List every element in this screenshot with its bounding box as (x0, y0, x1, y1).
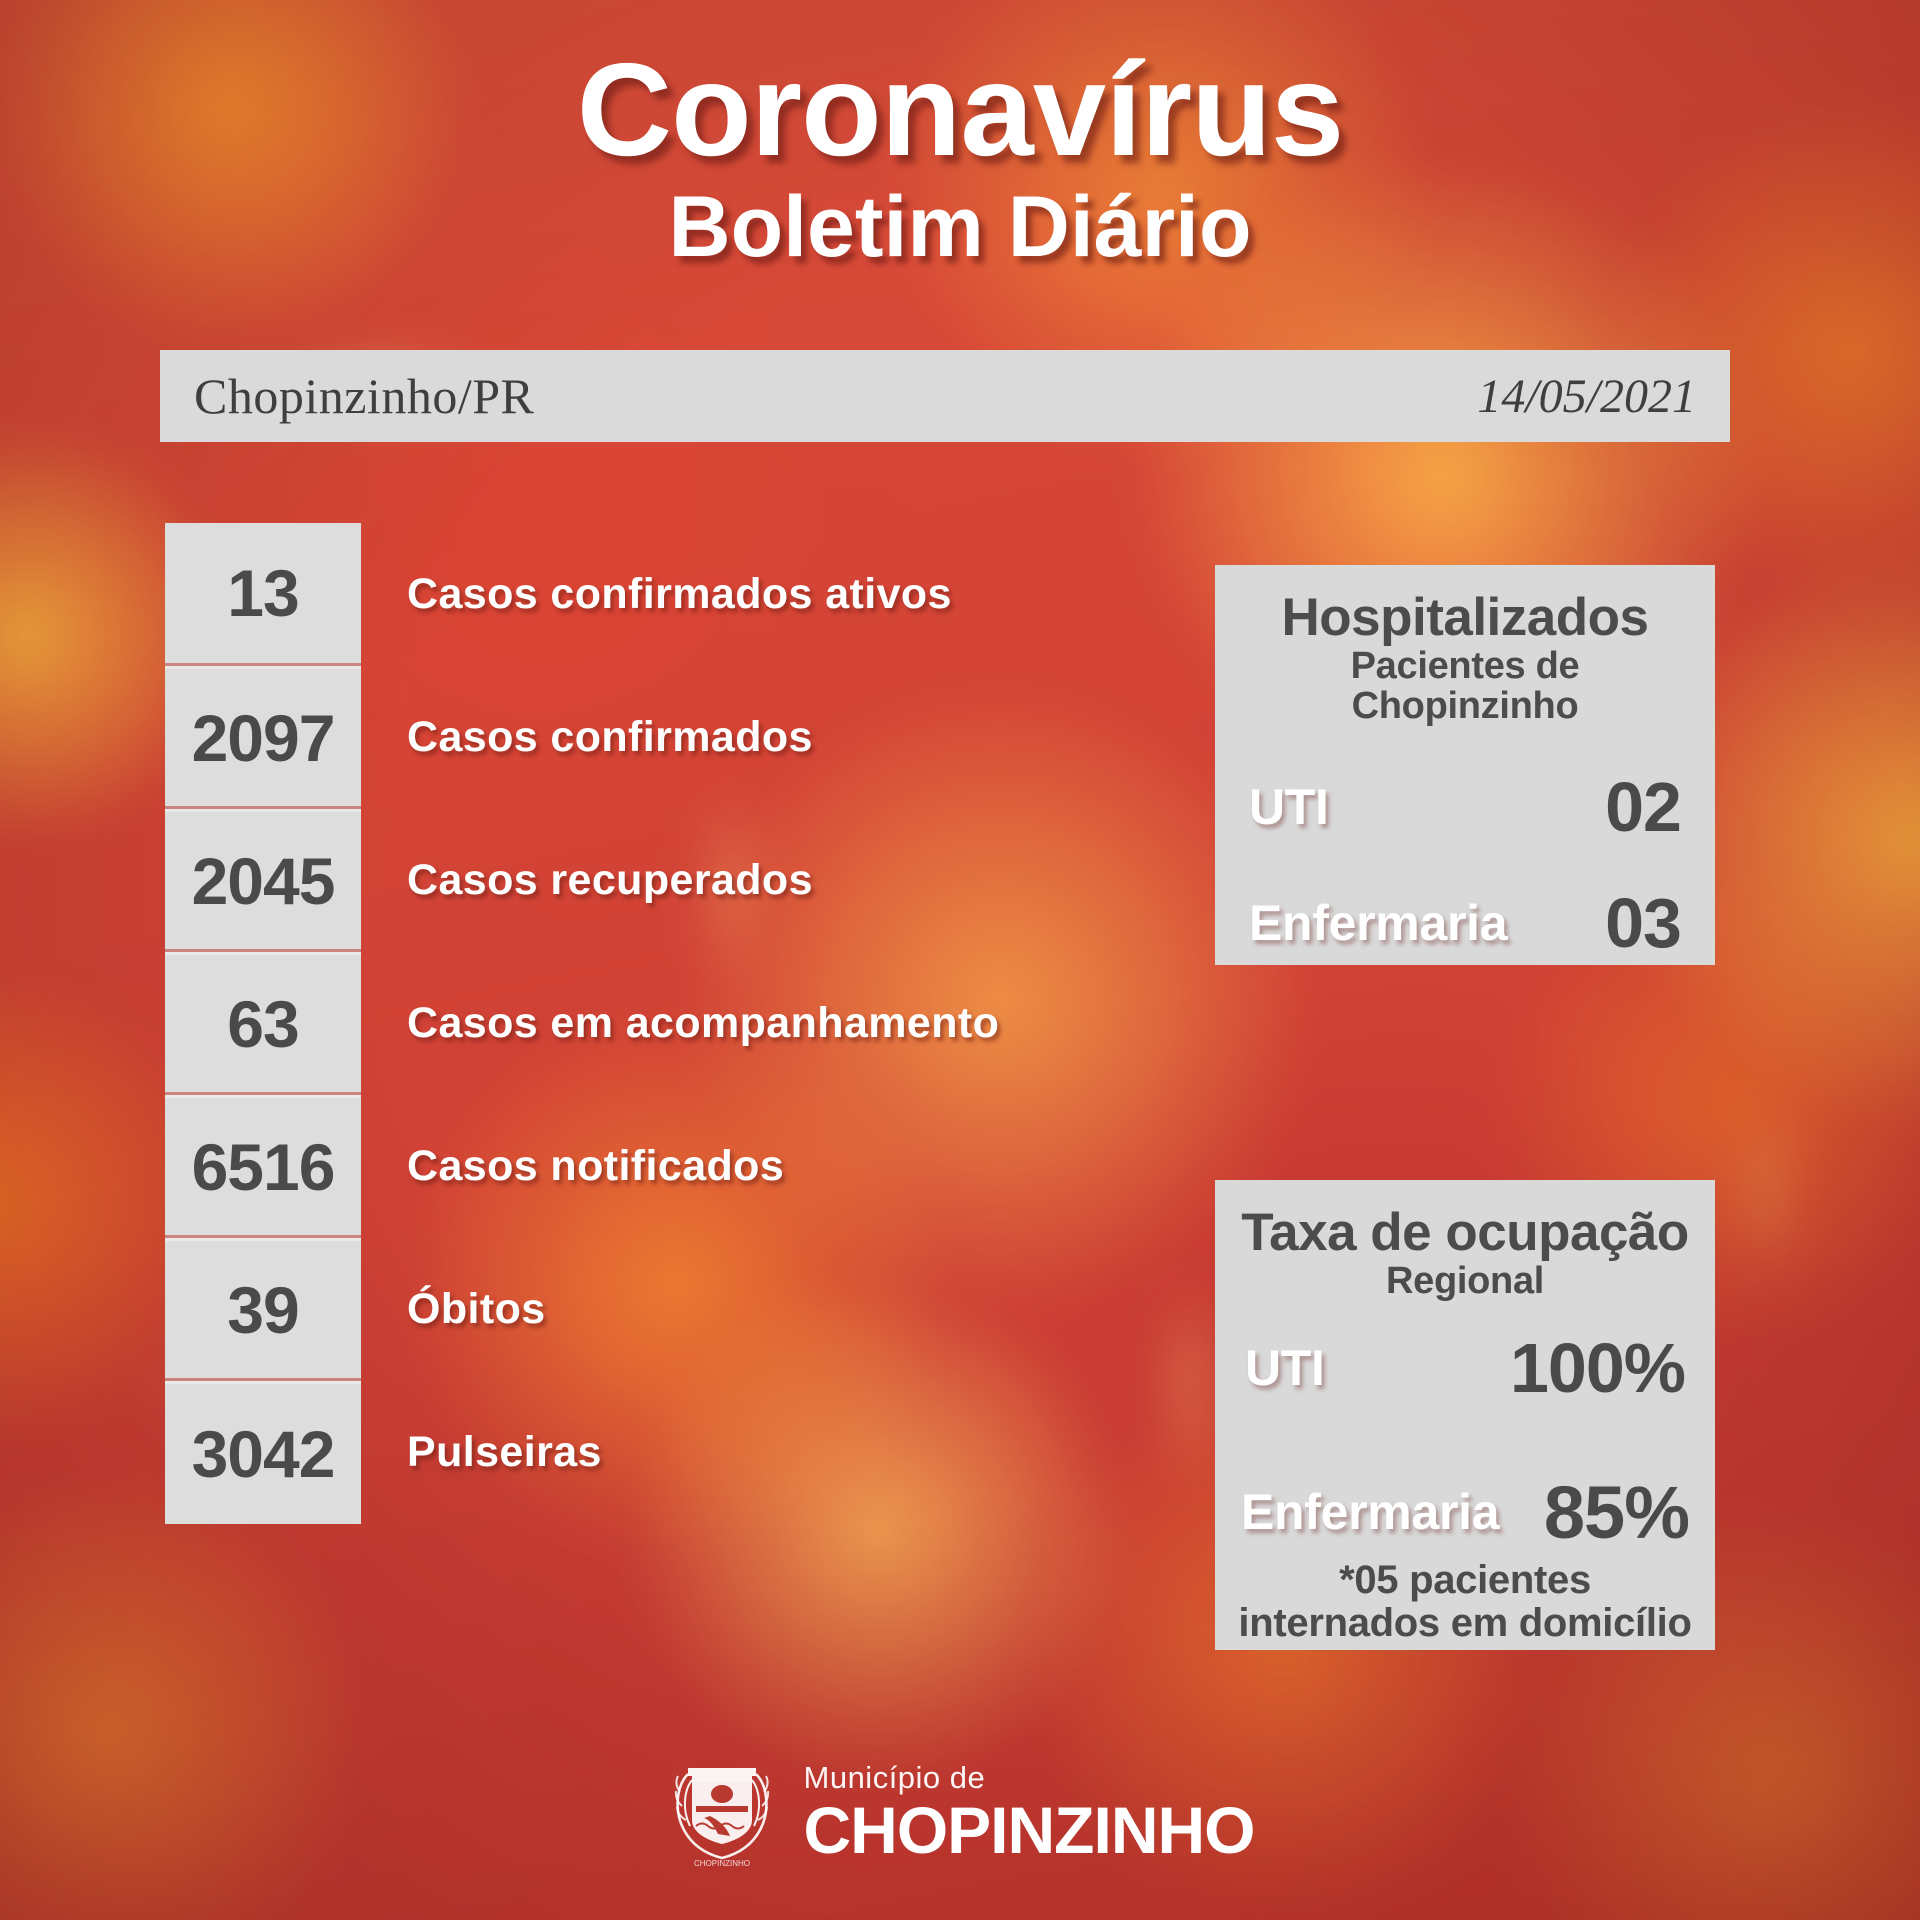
stat-value-box: 63 (165, 952, 361, 1095)
hospitalized-enfermaria-label: Enfermaria (1249, 894, 1507, 952)
coronavirus-daily-bulletin: Coronavírus Boletim Diário Chopinzinho/P… (0, 0, 1920, 1920)
hospitalized-row-enfermaria: Enfermaria 03 (1239, 883, 1691, 963)
stat-label: Casos notificados (407, 1142, 784, 1191)
occupancy-uti-label: UTI (1245, 1339, 1325, 1397)
stat-row: 6516 Casos notificados (165, 1095, 1175, 1238)
stat-value: 63 (227, 986, 298, 1062)
stat-label: Casos recuperados (407, 856, 813, 905)
stat-label: Casos em acompanhamento (407, 999, 999, 1048)
stat-value-box: 3042 (165, 1381, 361, 1524)
stat-label: Casos confirmados ativos (407, 570, 952, 619)
stat-label: Casos confirmados (407, 713, 813, 762)
stat-value: 2045 (192, 843, 335, 919)
occupancy-enfermaria-label: Enfermaria (1241, 1483, 1499, 1541)
stat-label: Óbitos (407, 1285, 546, 1334)
occupancy-rate-panel: Taxa de ocupação Regional UTI 100% Enfer… (1215, 1180, 1715, 1650)
stat-value-box: 39 (165, 1238, 361, 1381)
stat-row: 2097 Casos confirmados (165, 666, 1175, 809)
page-title: Coronavírus (0, 44, 1920, 176)
occupancy-note: *05 pacientes internados em domicílio (1235, 1559, 1695, 1645)
location-date-bar: Chopinzinho/PR 14/05/2021 (160, 350, 1730, 442)
stat-row: 2045 Casos recuperados (165, 809, 1175, 952)
stat-row: 63 Casos em acompanhamento (165, 952, 1175, 1095)
brand-prefix: Município de (804, 1762, 1255, 1793)
coat-of-arms-icon: CHOPINZINHO (666, 1746, 778, 1878)
svg-text:CHOPINZINHO: CHOPINZINHO (694, 1859, 750, 1868)
stat-row: 3042 Pulseiras (165, 1381, 1175, 1524)
stat-value-box: 2097 (165, 666, 361, 809)
city-label: Chopinzinho/PR (194, 367, 534, 425)
hospitalized-row-uti: UTI 02 (1239, 767, 1691, 847)
page-subtitle: Boletim Diário (0, 182, 1920, 272)
statistics-list: 13 Casos confirmados ativos 2097 Casos c… (165, 523, 1175, 1524)
stat-value: 13 (227, 555, 298, 631)
occupancy-title: Taxa de ocupação (1235, 1206, 1695, 1260)
stat-row: 39 Óbitos (165, 1238, 1175, 1381)
stat-value-box: 13 (165, 523, 361, 666)
footer-brand: CHOPINZINHO Município de CHOPINZINHO (0, 1746, 1920, 1878)
hospitalized-panel: Hospitalizados Pacientes de Chopinzinho … (1215, 565, 1715, 965)
hospitalized-subtitle: Pacientes de Chopinzinho (1239, 647, 1691, 727)
bulletin-date: 14/05/2021 (1477, 369, 1696, 424)
page-header: Coronavírus Boletim Diário (0, 44, 1920, 272)
stat-value: 3042 (192, 1416, 335, 1492)
stat-label: Pulseiras (407, 1428, 602, 1477)
hospitalized-uti-value: 02 (1605, 767, 1681, 847)
stat-value-box: 2045 (165, 809, 361, 952)
brand-text: Município de CHOPINZINHO (804, 1762, 1255, 1863)
stat-value: 2097 (192, 700, 335, 776)
stat-value: 6516 (192, 1129, 335, 1205)
stat-value-box: 6516 (165, 1095, 361, 1238)
hospitalized-enfermaria-value: 03 (1605, 883, 1681, 963)
occupancy-row-enfermaria: Enfermaria 85% (1235, 1470, 1695, 1555)
stat-row: 13 Casos confirmados ativos (165, 523, 1175, 666)
occupancy-row-uti: UTI 100% (1235, 1328, 1695, 1408)
brand-name: CHOPINZINHO (804, 1797, 1255, 1863)
occupancy-enfermaria-value: 85% (1544, 1470, 1689, 1555)
occupancy-subtitle: Regional (1235, 1262, 1695, 1302)
hospitalized-title: Hospitalizados (1239, 591, 1691, 645)
hospitalized-uti-label: UTI (1249, 778, 1329, 836)
stat-value: 39 (227, 1272, 298, 1348)
occupancy-uti-value: 100% (1510, 1328, 1685, 1408)
